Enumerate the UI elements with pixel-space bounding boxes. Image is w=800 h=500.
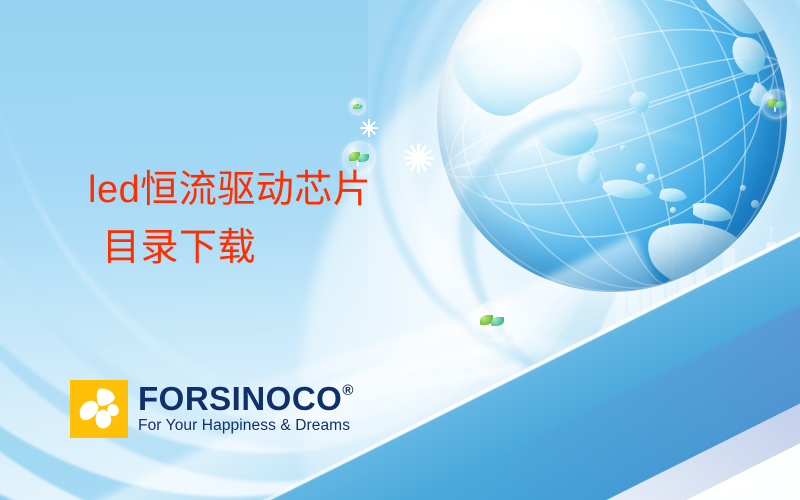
registered-trademark-mark: ® [342, 383, 354, 398]
logo-tagline: For Your Happiness & Dreams [138, 418, 354, 434]
logo-wordmark-text: FORSINOCO [138, 382, 342, 415]
brand-logo[interactable]: FORSINOCO ® For Your Happiness & Dreams [70, 380, 354, 438]
bubble-with-green-leaf-icon [472, 302, 512, 342]
promo-banner: led恒流驱动芯片 目录下载 FORSINOCO ® For Your Happ… [0, 0, 800, 500]
bubble-with-green-leaf-icon [761, 89, 791, 119]
headline-line-2: 目录下载 [88, 220, 371, 278]
white-starburst-sparkle-icon [401, 141, 435, 175]
bubble-with-green-leaf-icon [349, 98, 366, 115]
logo-wordmark: FORSINOCO ® [138, 382, 354, 415]
four-petal-flower-icon [70, 380, 128, 438]
white-starburst-sparkle-icon [358, 117, 380, 139]
page-title: led恒流驱动芯片 目录下载 [88, 162, 371, 278]
logo-text-block: FORSINOCO ® For Your Happiness & Dreams [138, 382, 354, 436]
headline-line-1: led恒流驱动芯片 [88, 169, 371, 211]
